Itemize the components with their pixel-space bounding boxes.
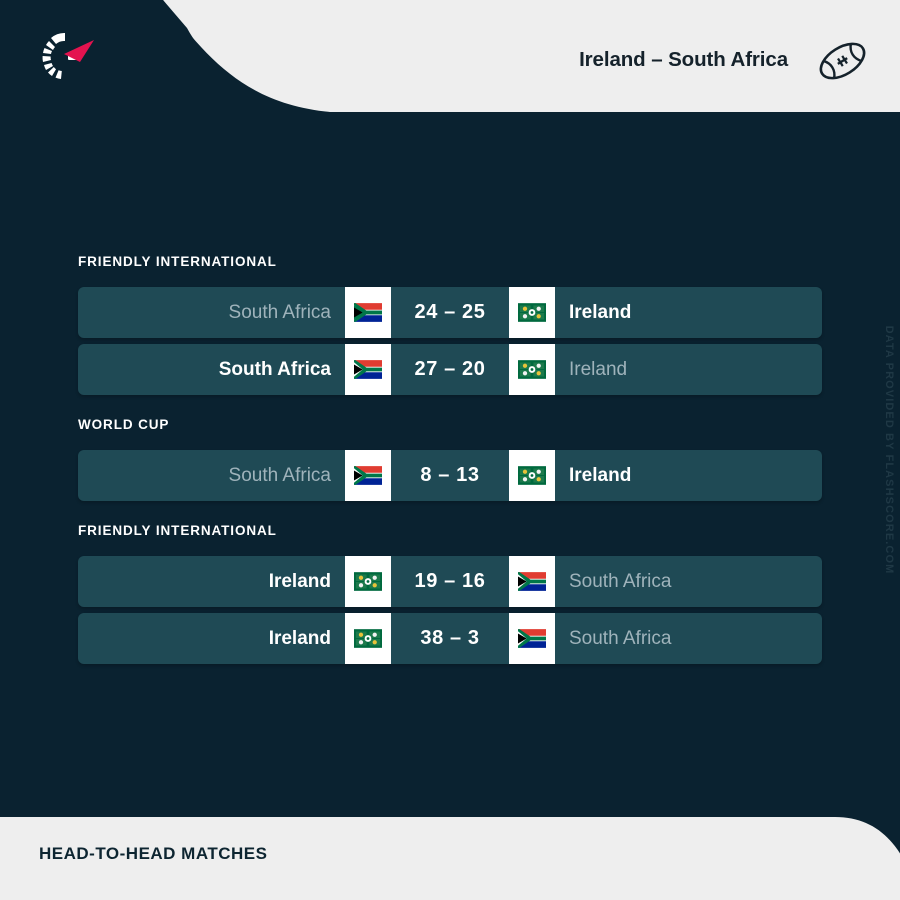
away-team-name: Ireland [555, 450, 822, 501]
footer: HEAD-TO-HEAD MATCHES [0, 800, 900, 900]
match-score: 27 – 20 [391, 344, 509, 395]
watermark-text: DATA PROVIDED BY FLASHSCORE.COM [883, 326, 895, 575]
south-africa-flag-icon [509, 556, 555, 607]
south-africa-flag-icon [345, 287, 391, 338]
away-team-name: South Africa [555, 556, 822, 607]
match-row[interactable]: South Africa 8 – 13 [78, 450, 822, 501]
away-team-name: South Africa [555, 613, 822, 664]
infographic-card: Ireland – South Africa FRIENDLY INTERNAT… [0, 0, 900, 900]
home-team-name: South Africa [78, 287, 345, 338]
match-row[interactable]: South Africa 24 – 25 [78, 287, 822, 338]
rugby-ball-icon [815, 37, 870, 85]
away-team-name: Ireland [555, 344, 822, 395]
section-label-friendly-international-2: FRIENDLY INTERNATIONAL [78, 523, 277, 538]
match-row[interactable]: Ireland 19 – 16 [78, 556, 822, 607]
ireland-rugby-flag-icon [509, 344, 555, 395]
south-africa-flag-icon [345, 344, 391, 395]
section-label-friendly-international-1: FRIENDLY INTERNATIONAL [78, 254, 277, 269]
match-row[interactable]: Ireland 38 – 3 [78, 613, 822, 664]
ireland-rugby-flag-icon [345, 556, 391, 607]
section-label-world-cup: WORLD CUP [78, 417, 169, 432]
header: Ireland – South Africa [0, 0, 900, 120]
match-score: 19 – 16 [391, 556, 509, 607]
match-score: 24 – 25 [391, 287, 509, 338]
match-score: 38 – 3 [391, 613, 509, 664]
match-row[interactable]: South Africa 27 – 20 [78, 344, 822, 395]
ireland-rugby-flag-icon [345, 613, 391, 664]
home-team-name: Ireland [78, 556, 345, 607]
home-team-name: South Africa [78, 450, 345, 501]
home-team-name: South Africa [78, 344, 345, 395]
away-team-name: Ireland [555, 287, 822, 338]
match-score: 8 – 13 [391, 450, 509, 501]
ireland-rugby-flag-icon [509, 450, 555, 501]
flashscore-logo-icon [28, 26, 98, 88]
ireland-rugby-flag-icon [509, 287, 555, 338]
data-provider-watermark: DATA PROVIDED BY FLASHSCORE.COM [878, 300, 900, 600]
south-africa-flag-icon [345, 450, 391, 501]
match-list: FRIENDLY INTERNATIONAL South Africa 24 –… [0, 120, 900, 800]
home-team-name: Ireland [78, 613, 345, 664]
page-title: Ireland – South Africa [579, 48, 788, 72]
footer-title: HEAD-TO-HEAD MATCHES [39, 844, 267, 864]
south-africa-flag-icon [509, 613, 555, 664]
